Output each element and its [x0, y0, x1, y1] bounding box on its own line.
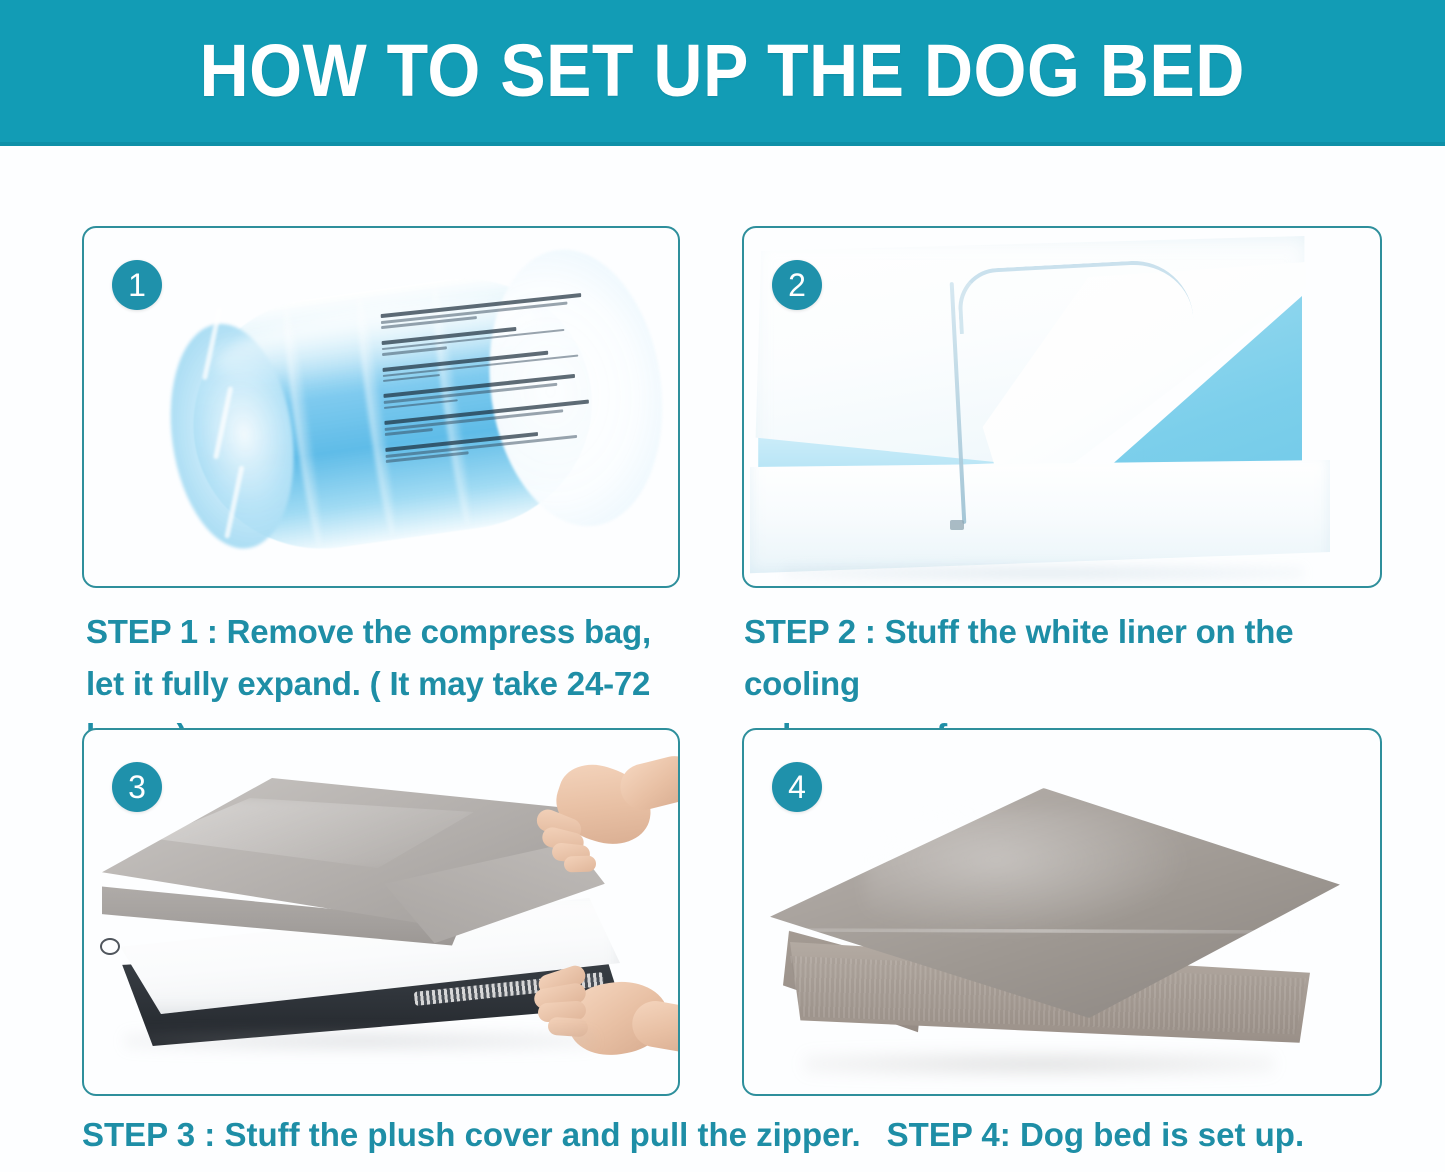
step-badge-1: 1: [112, 260, 162, 310]
step-4-illustration: [744, 730, 1380, 1094]
step-2-illustration: [744, 228, 1380, 586]
zipper-pull-icon: [100, 938, 120, 955]
drop-shadow: [784, 564, 1304, 582]
dog-bed-highlight: [864, 808, 1194, 938]
bag-warning-label: [381, 291, 605, 510]
hand-lower-right: [524, 952, 680, 1072]
bottom-caption-row: STEP 3 : Stuff the plush cover and pull …: [82, 1112, 1382, 1158]
drop-shadow: [124, 1030, 594, 1052]
header-banner: HOW TO SET UP THE DOG BED: [0, 0, 1445, 146]
liner-zipper-curve: [956, 258, 1193, 334]
step-panel-2: 2: [742, 226, 1382, 588]
step-panel-4: 4: [742, 728, 1382, 1096]
white-liner-front: [750, 460, 1330, 578]
step-1-illustration: [84, 228, 678, 586]
step-3-caption: STEP 3 : Stuff the plush cover and pull …: [82, 1116, 861, 1153]
page-title: HOW TO SET UP THE DOG BED: [200, 34, 1245, 108]
hand-upper-right: [502, 758, 680, 888]
zipper-pull-icon: [950, 520, 964, 530]
step-badge-2: 2: [772, 260, 822, 310]
step-panel-1: 1: [82, 226, 680, 588]
step-badge-3: 3: [112, 762, 162, 812]
step-4-caption: STEP 4: Dog bed is set up.: [887, 1116, 1304, 1153]
step-3-illustration: [84, 730, 678, 1094]
hand-thumb: [564, 855, 597, 872]
compressed-bag-roll: [144, 233, 650, 586]
step-badge-4: 4: [772, 762, 822, 812]
drop-shadow: [804, 1052, 1274, 1076]
step-panel-3: 3: [82, 728, 680, 1096]
